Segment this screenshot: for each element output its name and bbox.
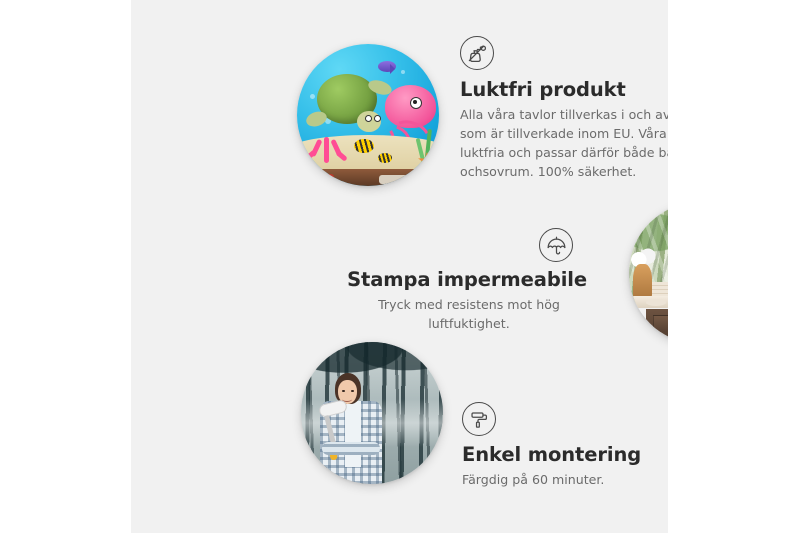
crossed-arms [322,442,380,455]
feature-title: Enkel montering [462,443,668,468]
feature-title: Stampa impermeabile [343,268,595,293]
woman-figure [315,373,403,484]
octopus-eye [410,97,422,109]
icon-row [343,228,595,262]
bubble-icon [401,70,405,74]
soap-dish [646,299,666,306]
no-odour-spray-bottle-icon [460,36,494,70]
umbrella-icon [539,228,573,262]
cabinet-drawer [653,315,668,332]
photo-woman-with-roller [301,342,443,484]
paint-roller-icon [462,402,496,436]
content-panel: Luktfri produkt Alla våra tavlor tillver… [131,0,668,533]
feature-title: Luktfri produkt [460,78,668,103]
turtle-eye [374,115,381,122]
feature-waterproof: Stampa impermeabile Tryck med resistens … [343,228,595,334]
fish-violet [378,61,396,72]
feature-description: Färgdig på 60 minuter. [462,471,668,490]
bubble-icon [310,94,315,99]
sea-floor-strip [297,169,439,186]
fish-yellow [354,139,374,153]
coral-plant [308,126,345,163]
feature-odourless: Luktfri produkt Alla våra tavlor tillver… [460,36,668,182]
shirt-inner [345,401,361,467]
photo-bathroom-wallpaper [629,202,668,344]
feature-easy-install: Enkel montering Färgdig på 60 minuter. [462,402,668,490]
infographic-page: Luktfri produkt Alla våra tavlor tillver… [0,0,800,533]
feature-description: Alla våra tavlor tillverkas i och av pro… [460,106,668,182]
photo-underwater-scene [297,44,439,186]
vanity-cabinet [646,309,668,345]
feature-description: Tryck med resistens mot hög luftfuktighe… [343,296,595,334]
